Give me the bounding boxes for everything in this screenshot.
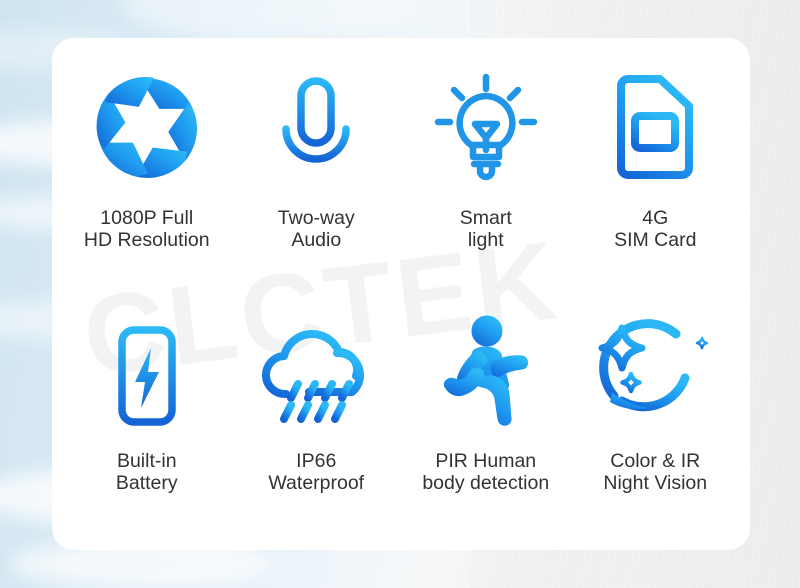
microphone-icon — [270, 64, 362, 192]
feature-label: IP66 Waterproof — [268, 451, 364, 495]
feature-item-battery: Built-in Battery — [62, 307, 232, 550]
feature-label: Color & IR Night Vision — [603, 451, 707, 495]
feature-label: Two-way Audio — [278, 208, 355, 252]
camera-aperture-icon — [93, 64, 201, 192]
feature-label: PIR Human body detection — [422, 451, 549, 495]
battery-icon — [111, 307, 183, 437]
feature-item-pir: PIR Human body detection — [401, 307, 571, 550]
feature-item-audio: Two-way Audio — [232, 64, 402, 307]
cloud-wisp — [120, 0, 420, 40]
feature-item-waterproof: IP66 Waterproof — [232, 307, 402, 550]
feature-label: 1080P Full HD Resolution — [84, 208, 210, 252]
feature-label: 4G SIM Card — [614, 208, 696, 252]
feature-item-sim: 4G SIM Card — [571, 64, 741, 307]
feature-item-smart-light: Smart light — [401, 64, 571, 307]
crescent-moon-stars-icon — [592, 307, 718, 437]
sim-card-icon — [613, 64, 697, 192]
rain-cloud-icon — [253, 307, 379, 437]
feature-label: Smart light — [460, 208, 512, 252]
feature-label: Built-in Battery — [116, 451, 178, 495]
feature-item-resolution: 1080P Full HD Resolution — [62, 64, 232, 307]
feature-grid: 1080P Full HD Resolution Two-way Audio — [52, 38, 750, 550]
feature-item-night-vision: Color & IR Night Vision — [571, 307, 741, 550]
light-bulb-icon — [431, 64, 541, 192]
running-person-icon — [430, 307, 542, 437]
feature-card: CLCTEK — [52, 38, 750, 550]
